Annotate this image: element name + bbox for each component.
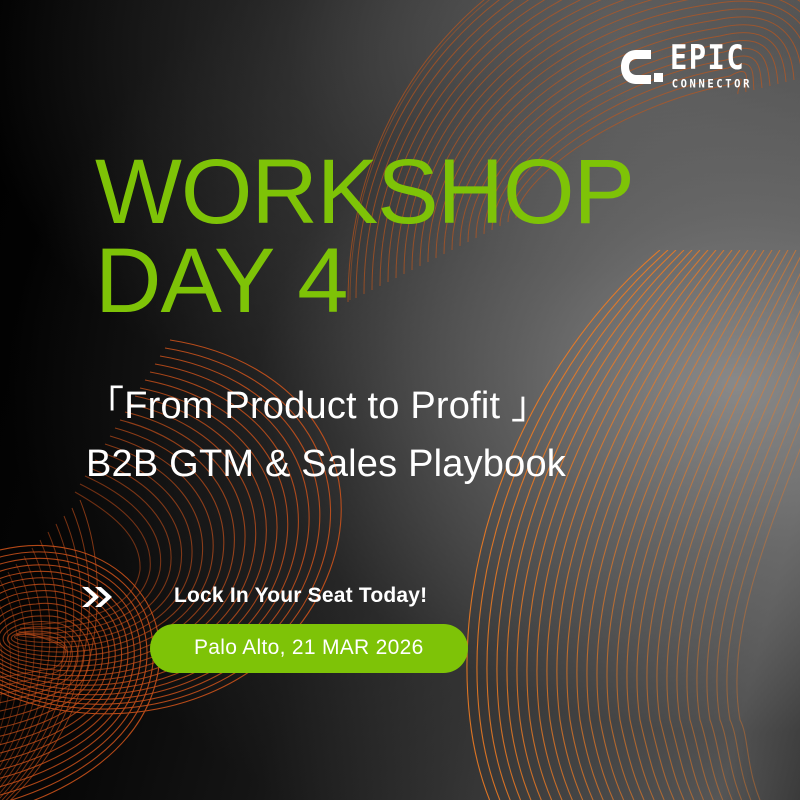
cta-block: Lock In Your Seat Today! Palo Alto, 21 M…	[80, 582, 720, 673]
c-bracket-mark-icon	[621, 47, 663, 87]
subtitle-line-2: B2B GTM & Sales Playbook	[86, 436, 746, 494]
subtitle: 「From Product to Profit 」 B2B GTM & Sale…	[86, 378, 746, 494]
cta-kicker-row: Lock In Your Seat Today!	[80, 582, 720, 610]
swirl-left-icon	[0, 300, 430, 800]
headline-line-1: WORKSHOP	[95, 148, 745, 237]
date-location-pill[interactable]: Palo Alto, 21 MAR 2026	[150, 624, 468, 673]
headline-line-2: DAY 4	[95, 237, 745, 326]
double-chevron-right-icon	[80, 584, 118, 610]
brand-logo[interactable]: EPIC CONNECTOR	[621, 44, 752, 90]
page-title: WORKSHOP DAY 4	[95, 148, 745, 326]
date-pill-row: Palo Alto, 21 MAR 2026	[80, 610, 720, 673]
cta-kicker-text: Lock In Your Seat Today!	[174, 584, 427, 608]
subtitle-line-1: 「From Product to Profit 」	[86, 378, 746, 436]
logo-wordmark: EPIC CONNECTOR	[670, 44, 752, 90]
poster-canvas: EPIC CONNECTOR WORKSHOP DAY 4 「From Prod…	[0, 0, 800, 800]
logo-tagline: CONNECTOR	[672, 78, 752, 90]
logo-name: EPIC	[670, 42, 745, 76]
swirl-bottom-right-icon	[360, 250, 800, 800]
